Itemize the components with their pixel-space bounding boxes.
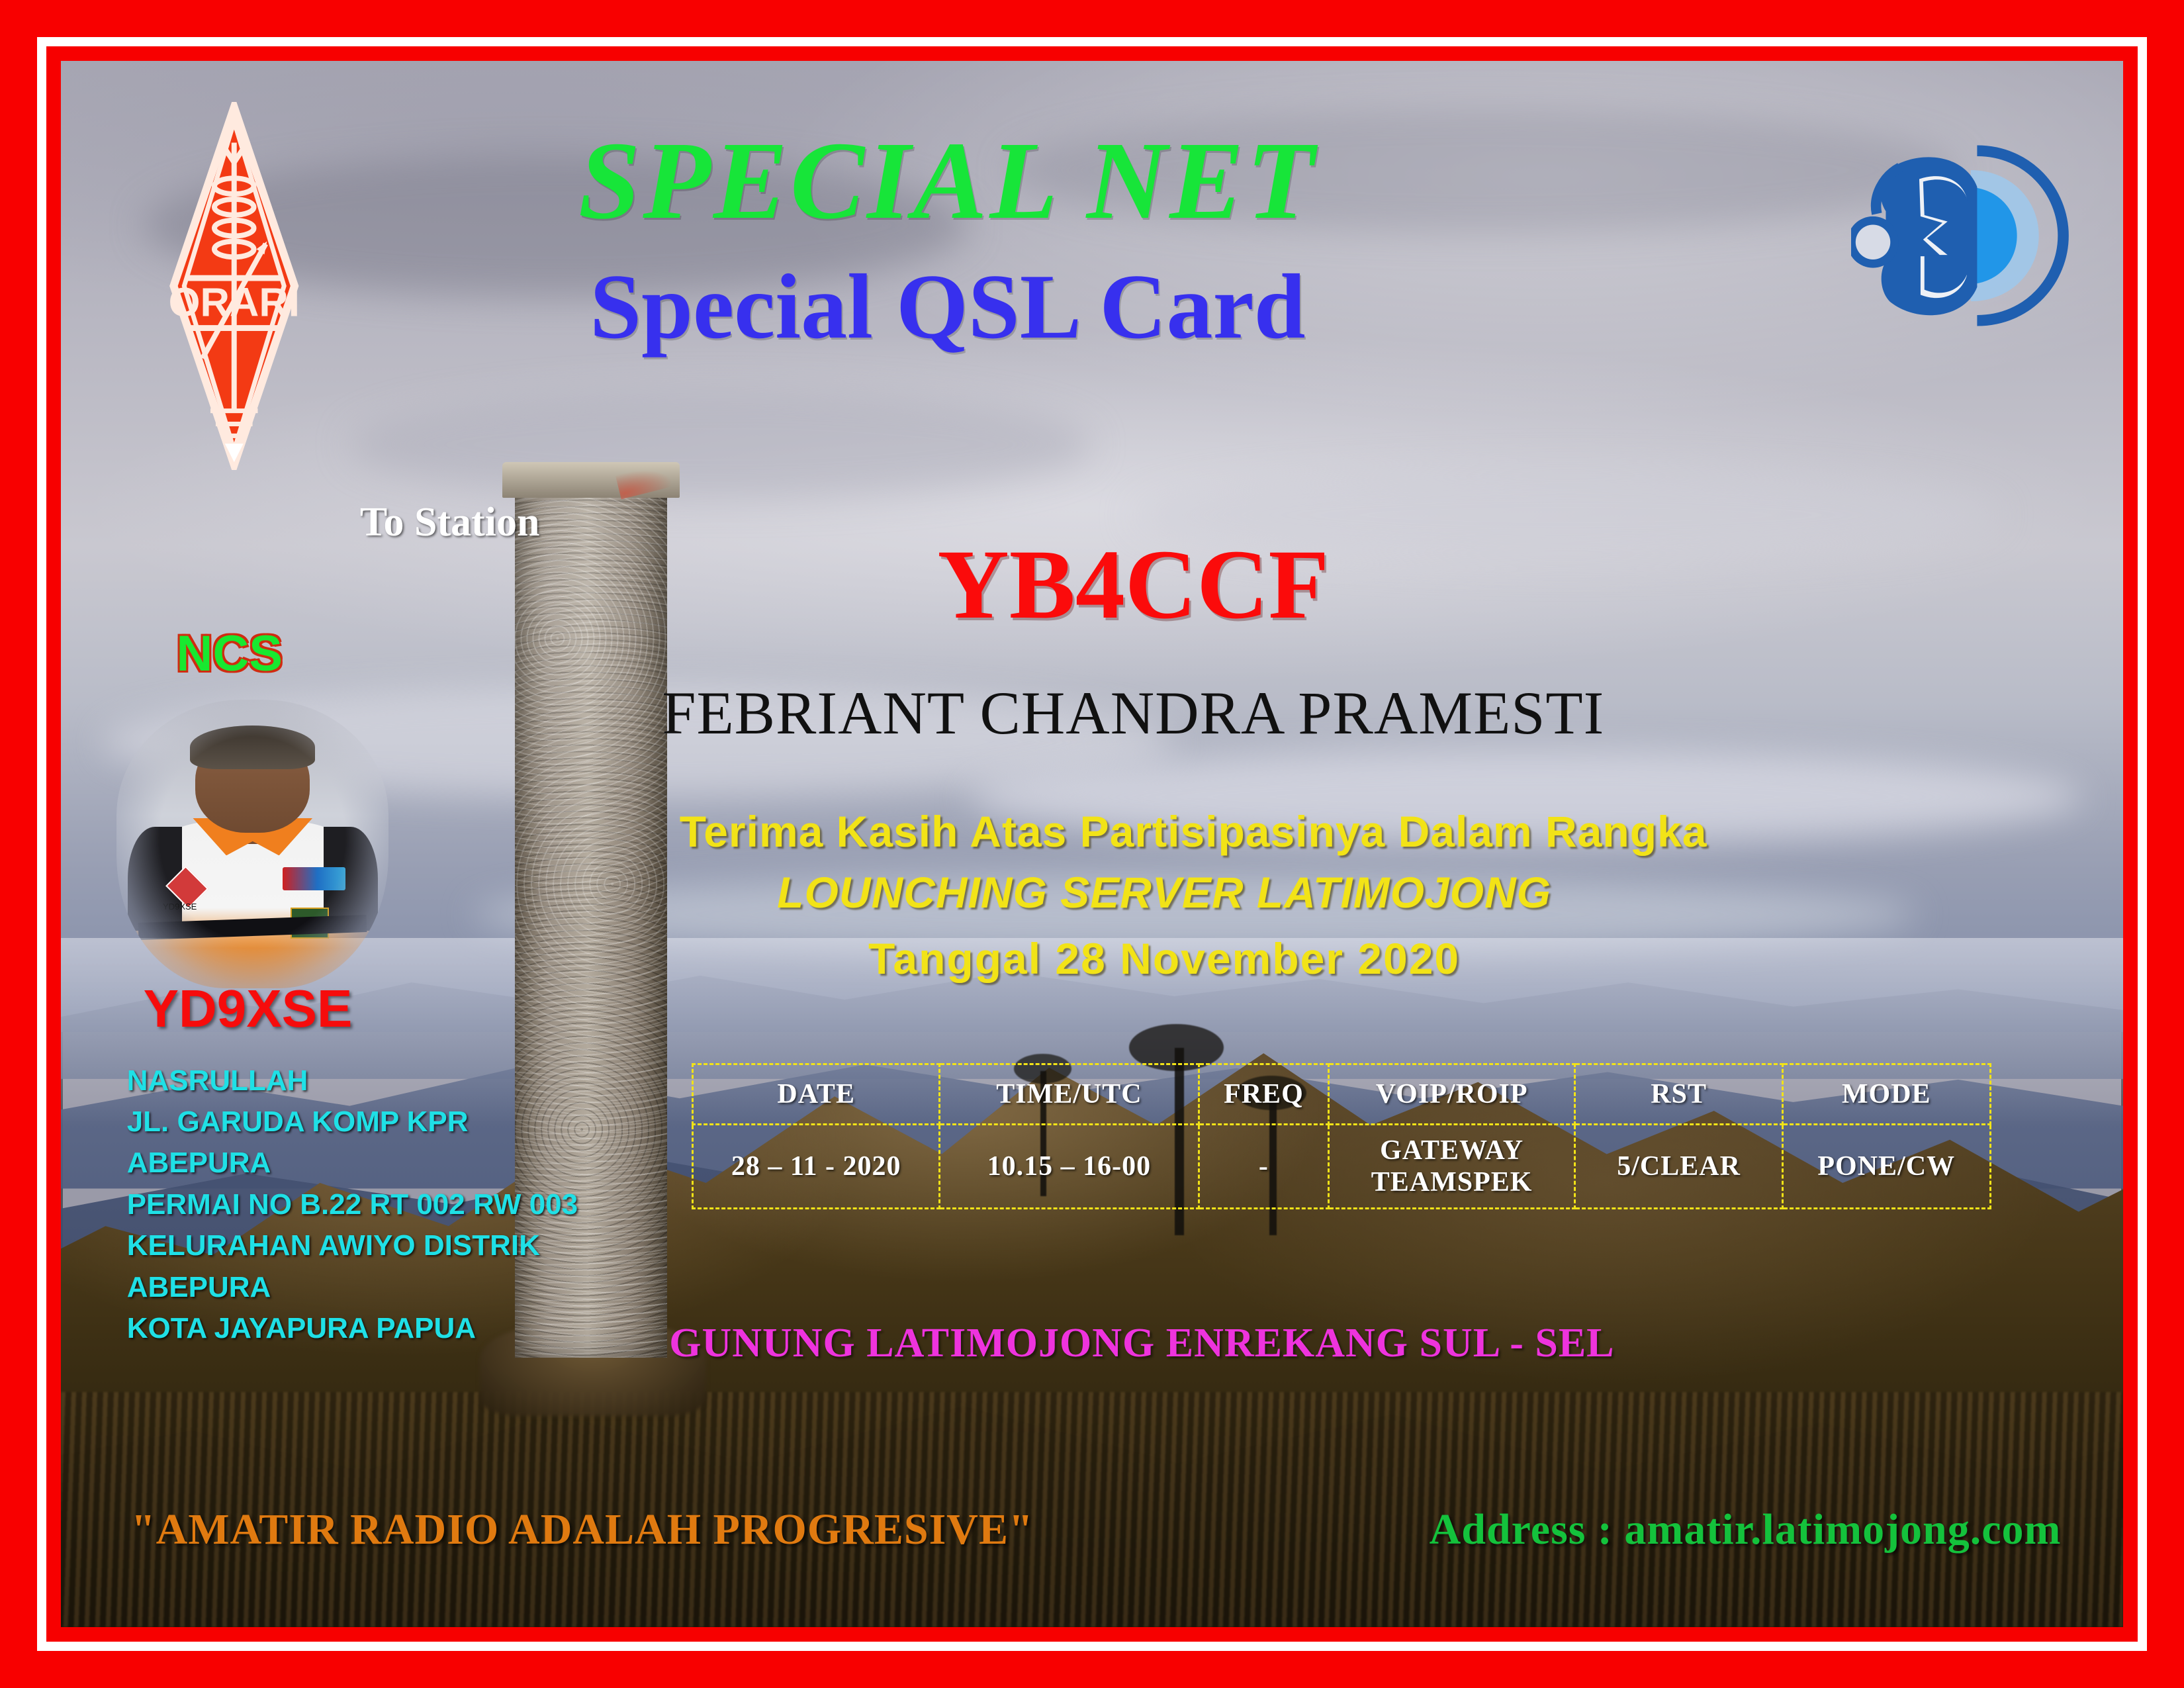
address-line: KOTA JAYAPURA PAPUA xyxy=(127,1308,578,1349)
photo-shirt-callsign: YD9XSE xyxy=(163,902,197,912)
column-header-rst: RST xyxy=(1575,1064,1783,1125)
frame-white-gap: ORARI xyxy=(37,37,2147,1651)
qso-log-table: DATE TIME/UTC FREQ VOIP/ROIP RST MODE 28… xyxy=(692,1063,1991,1209)
page-subtitle: Special QSL Card xyxy=(226,254,1669,360)
cloud xyxy=(349,390,1092,500)
column-header-mode: MODE xyxy=(1782,1064,1990,1125)
photo-hair xyxy=(190,726,315,769)
cell-freq: - xyxy=(1199,1125,1328,1209)
cell-date: 28 – 11 - 2020 xyxy=(693,1125,939,1209)
thanks-line-3-date: Tanggal 28 November 2020 xyxy=(680,933,1649,984)
footer-motto: "AMATIR RADIO ADALAH PROGRESIVE" xyxy=(131,1505,1034,1555)
radio-operator-headphones-logo xyxy=(1851,99,2070,373)
column-header-time: TIME/UTC xyxy=(939,1064,1199,1125)
ncs-label: NCS xyxy=(176,625,282,682)
to-station-label: To Station xyxy=(360,499,540,546)
operator-name: FEBRIANT CHANDRA PRAMESTI xyxy=(556,678,1711,748)
column-header-voip: VOIP/ROIP xyxy=(1328,1064,1574,1125)
address-line: ABEPURA xyxy=(127,1143,578,1184)
station-callsign: YB4CCF xyxy=(700,528,1567,641)
thanks-block: Terima Kasih Atas Partisipasinya Dalam R… xyxy=(680,806,1649,984)
cell-voip-line-1: GATEWAY xyxy=(1330,1135,1573,1166)
cell-voip: GATEWAY TEAMSPEK xyxy=(1328,1125,1574,1209)
thanks-line-1: Terima Kasih Atas Partisipasinya Dalam R… xyxy=(680,806,1649,857)
address-line: ABEPURA xyxy=(127,1267,578,1308)
table-row: 28 – 11 - 2020 10.15 – 16-00 - GATEWAY T… xyxy=(693,1125,1990,1209)
address-line: JL. GARUDA KOMP KPR xyxy=(127,1102,578,1143)
address-line: PERMAI NO B.22 RT 002 RW 003 xyxy=(127,1184,578,1225)
footer-web-address: Address : amatir.latimojong.com xyxy=(1430,1505,2062,1555)
thanks-line-2: LOUNCHING SERVER LATIMOJONG xyxy=(680,867,1649,917)
column-header-freq: FREQ xyxy=(1199,1064,1328,1125)
cell-mode: PONE/CW xyxy=(1782,1125,1990,1209)
page-title: SPECIAL NET xyxy=(226,117,1669,245)
sender-address-block: NASRULLAH JL. GARUDA KOMP KPR ABEPURA PE… xyxy=(127,1060,578,1350)
frame-inner-red-border: ORARI xyxy=(46,46,2138,1642)
address-line: NASRULLAH xyxy=(127,1060,578,1102)
ncs-callsign: YD9XSE xyxy=(144,978,353,1039)
cell-rst: 5/CLEAR xyxy=(1575,1125,1783,1209)
cell-voip-line-2: TEAMSPEK xyxy=(1330,1166,1573,1198)
address-line: KELURAHAN AWIYO DISTRIK xyxy=(127,1225,578,1266)
table-header-row: DATE TIME/UTC FREQ VOIP/ROIP RST MODE xyxy=(693,1064,1990,1125)
qsl-card-outer-frame: ORARI xyxy=(0,0,2184,1688)
column-header-date: DATE xyxy=(693,1064,939,1125)
photo-org-patch xyxy=(283,867,345,890)
qsl-card-photo-background: ORARI xyxy=(61,61,2123,1627)
cell-time: 10.15 – 16-00 xyxy=(939,1125,1199,1209)
location-text: GUNUNG LATIMOJONG ENREKANG SUL - SEL xyxy=(669,1320,1700,1367)
ncs-operator-photo: YD9XSE xyxy=(116,700,388,988)
